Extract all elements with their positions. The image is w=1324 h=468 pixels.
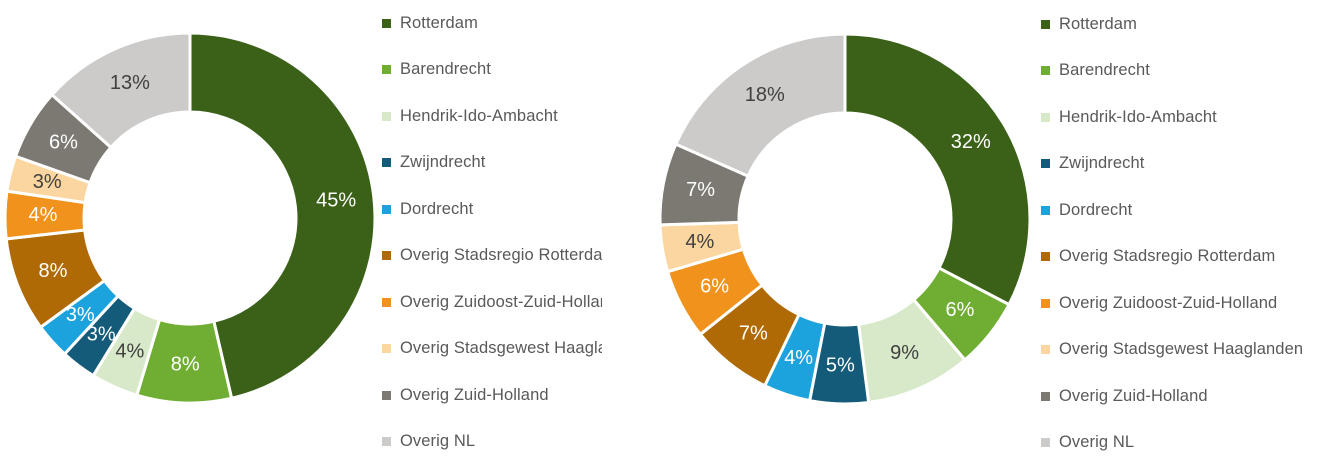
- legend-item-label: Overig Zuid-Holland: [400, 386, 549, 405]
- legend-swatch-icon: [1041, 113, 1050, 122]
- slice-data-label: 5%: [826, 354, 855, 376]
- legend-swatch-icon: [382, 298, 391, 307]
- legend-item-label: Rotterdam: [400, 14, 478, 33]
- legend-item-label: Overig Zuidoost-Zuid-Holland: [400, 293, 602, 312]
- legend-swatch-icon: [1041, 345, 1050, 354]
- slice-data-label: 13%: [110, 72, 150, 94]
- left-chart-panel: 45%8%4%3%3%8%4%3%6%13% RotterdamBarendre…: [0, 0, 620, 468]
- legend-item-label: Hendrik-Ido-Ambacht: [1059, 108, 1217, 127]
- legend-swatch-icon: [382, 112, 391, 121]
- legend-swatch-icon: [1041, 438, 1050, 447]
- legend-swatch-icon: [382, 391, 391, 400]
- legend-swatch-icon: [1041, 392, 1050, 401]
- legend-item-label: Overig Zuidoost-Zuid-Holland: [1059, 294, 1277, 313]
- legend-item-label: Overig Stadsregio Rotterdam: [1059, 247, 1275, 266]
- legend-swatch-icon: [382, 437, 391, 446]
- legend-item[interactable]: Dordrecht: [1041, 200, 1132, 220]
- legend-item[interactable]: Overig NL: [1041, 433, 1134, 453]
- legend-item-label: Barendrecht: [400, 60, 491, 79]
- legend-item-label: Dordrecht: [400, 200, 473, 219]
- slice-data-label: 7%: [739, 322, 768, 344]
- legend-item[interactable]: Overig Stadsgewest Haaglanden: [382, 339, 602, 359]
- slice-data-label: 3%: [33, 171, 62, 193]
- right-donut-svg: 32%6%9%5%4%7%6%4%7%18%: [640, 0, 1040, 468]
- legend-item-label: Overig Stadsregio Rotterdam: [400, 246, 602, 265]
- slice-data-label: 4%: [28, 204, 57, 226]
- legend-swatch-icon: [1041, 299, 1050, 308]
- legend-item[interactable]: Overig Stadsregio Rotterdam: [1041, 247, 1275, 267]
- slice-data-label: 4%: [115, 341, 144, 363]
- legend-item-label: Barendrecht: [1059, 61, 1150, 80]
- right-legend: RotterdamBarendrechtHendrik-Ido-AmbachtZ…: [1041, 0, 1324, 468]
- legend-item-label: Rotterdam: [1059, 15, 1137, 34]
- left-donut-svg: 45%8%4%3%3%8%4%3%6%13%: [0, 0, 400, 468]
- legend-item[interactable]: Barendrecht: [1041, 61, 1150, 81]
- right-donut-chart: 32%6%9%5%4%7%6%4%7%18%: [640, 0, 1040, 468]
- slice-data-label: 6%: [700, 275, 729, 297]
- left-legend: RotterdamBarendrechtHendrik-Ido-AmbachtZ…: [382, 0, 602, 468]
- slice-data-label: 32%: [951, 131, 991, 153]
- legend-item[interactable]: Overig Zuidoost-Zuid-Holland: [382, 292, 602, 312]
- slice-data-label: 7%: [686, 179, 715, 201]
- legend-item-label: Overig NL: [1059, 433, 1134, 452]
- legend-swatch-icon: [382, 158, 391, 167]
- legend-swatch-icon: [382, 19, 391, 28]
- pie-slice[interactable]: [845, 34, 1030, 305]
- legend-item[interactable]: Zwijndrecht: [1041, 154, 1144, 174]
- legend-item-label: Hendrik-Ido-Ambacht: [400, 107, 558, 126]
- left-donut-chart: 45%8%4%3%3%8%4%3%6%13%: [0, 0, 400, 468]
- slice-data-label: 45%: [316, 190, 356, 212]
- legend-item-label: Zwijndrecht: [1059, 154, 1144, 173]
- legend-item[interactable]: Overig Zuidoost-Zuid-Holland: [1041, 293, 1277, 313]
- slice-data-label: 18%: [745, 84, 785, 106]
- legend-item[interactable]: Overig Zuid-Holland: [1041, 386, 1208, 406]
- legend-swatch-icon: [382, 65, 391, 74]
- legend-item[interactable]: Rotterdam: [1041, 14, 1137, 34]
- legend-item[interactable]: Overig Stadsgewest Haaglanden: [1041, 340, 1303, 360]
- legend-item[interactable]: Barendrecht: [382, 60, 491, 80]
- legend-item[interactable]: Overig Zuid-Holland: [382, 385, 549, 405]
- legend-swatch-icon: [1041, 66, 1050, 75]
- slice-data-label: 6%: [49, 131, 78, 153]
- legend-item-label: Overig Stadsgewest Haaglanden: [1059, 340, 1303, 359]
- legend-item-label: Overig Stadsgewest Haaglanden: [400, 339, 602, 358]
- legend-item-label: Overig Zuid-Holland: [1059, 387, 1208, 406]
- slice-data-label: 9%: [890, 342, 919, 364]
- slice-data-label: 4%: [685, 231, 714, 253]
- slice-data-label: 8%: [171, 353, 200, 375]
- right-chart-panel: 32%6%9%5%4%7%6%4%7%18% RotterdamBarendre…: [640, 0, 1324, 468]
- legend-swatch-icon: [1041, 20, 1050, 29]
- legend-item-label: Dordrecht: [1059, 201, 1132, 220]
- slice-data-label: 3%: [66, 304, 95, 326]
- legend-swatch-icon: [1041, 206, 1050, 215]
- slice-data-label: 4%: [784, 347, 813, 369]
- legend-item[interactable]: Overig NL: [382, 432, 475, 452]
- legend-item[interactable]: Hendrik-Ido-Ambacht: [382, 106, 558, 126]
- legend-item[interactable]: Hendrik-Ido-Ambacht: [1041, 107, 1217, 127]
- legend-item-label: Overig NL: [400, 432, 475, 451]
- legend-item-label: Zwijndrecht: [400, 153, 485, 172]
- chart-page: 45%8%4%3%3%8%4%3%6%13% RotterdamBarendre…: [0, 0, 1324, 468]
- legend-item[interactable]: Zwijndrecht: [382, 153, 485, 173]
- legend-swatch-icon: [382, 344, 391, 353]
- legend-swatch-icon: [1041, 159, 1050, 168]
- slice-data-label: 8%: [39, 260, 68, 282]
- legend-item[interactable]: Dordrecht: [382, 199, 473, 219]
- legend-swatch-icon: [382, 205, 391, 214]
- slice-data-label: 6%: [946, 299, 975, 321]
- legend-swatch-icon: [382, 251, 391, 260]
- legend-item[interactable]: Overig Stadsregio Rotterdam: [382, 246, 602, 266]
- legend-swatch-icon: [1041, 252, 1050, 261]
- legend-item[interactable]: Rotterdam: [382, 13, 478, 33]
